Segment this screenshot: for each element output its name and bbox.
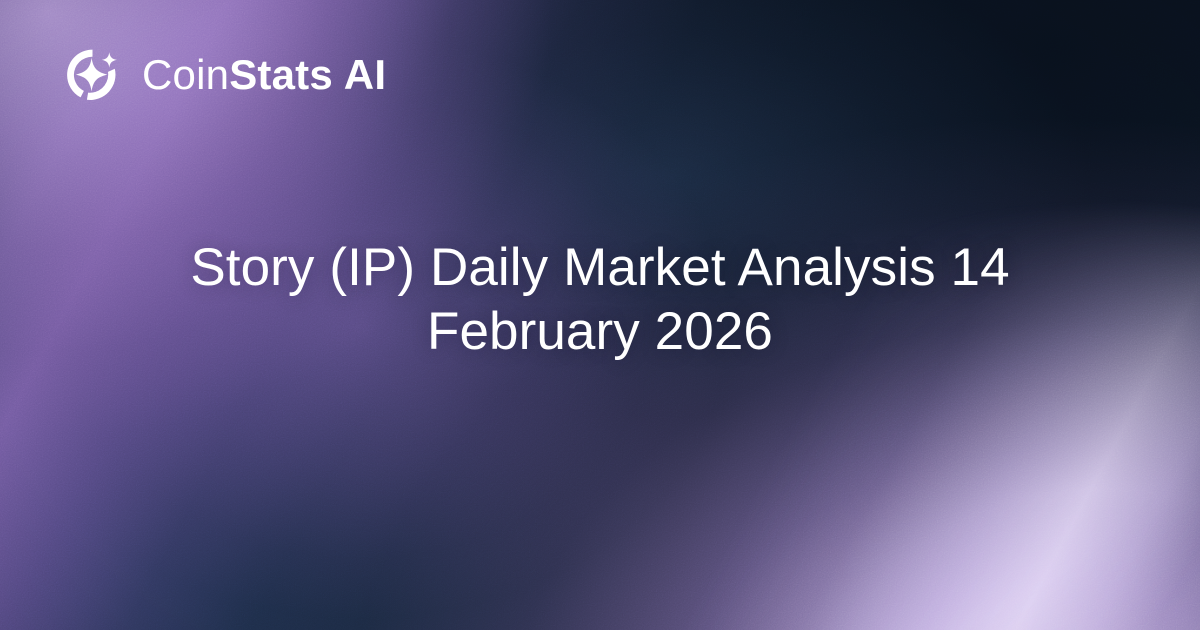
brand-wordmark-ai: AI (344, 54, 386, 96)
brand-wordmark-coin: Coin (142, 54, 229, 96)
page-title-line-2: February 2026 (427, 302, 773, 361)
og-card: CoinStatsAI Story (IP) Daily Market Anal… (0, 0, 1200, 630)
brand-wordmark-stats: Stats (229, 54, 333, 96)
brand-lockup[interactable]: CoinStatsAI (62, 45, 386, 105)
page-title: Story (IP) Daily Market Analysis 14 Febr… (110, 236, 1090, 364)
page-title-line-1: Story (IP) Daily Market Analysis 14 (190, 238, 1009, 297)
headline-block: Story (IP) Daily Market Analysis 14 Febr… (0, 236, 1200, 364)
brand-wordmark: CoinStatsAI (142, 54, 386, 96)
coinstats-sparkle-logo-icon (62, 45, 122, 105)
